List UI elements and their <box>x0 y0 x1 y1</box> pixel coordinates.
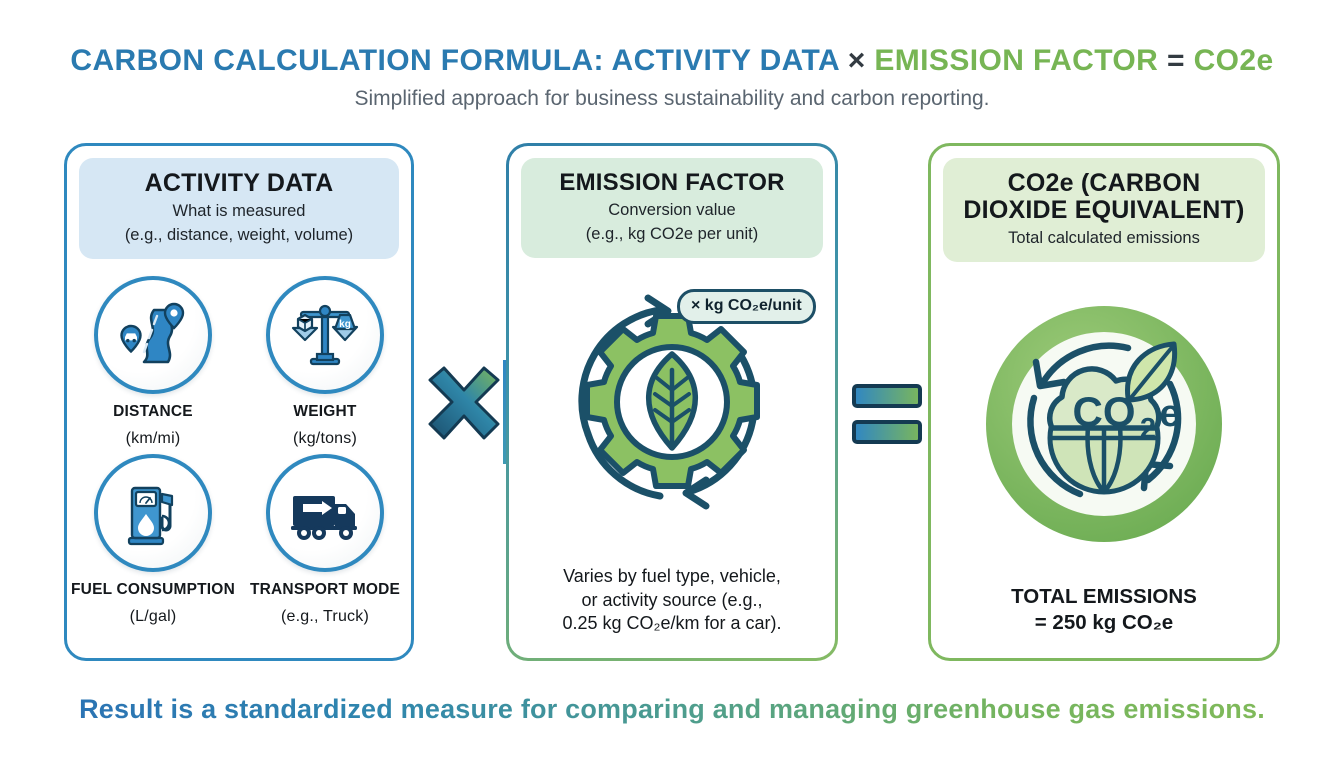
panel-co2e-result-total: TOTAL EMISSIONS = 250 kg CO₂e <box>931 584 1277 636</box>
title-equals-symbol: = <box>1167 44 1185 77</box>
fuel-pump-icon <box>94 454 212 572</box>
panel-co2e-result-header: CO2e (CARBON DIOXIDE EQUIVALENT) Total c… <box>943 158 1265 262</box>
svg-text:2: 2 <box>1140 413 1156 445</box>
panel-co2e-result: CO2e (CARBON DIOXIDE EQUIVALENT) Total c… <box>928 143 1280 661</box>
panel-emission-factor-subtitle-2: (e.g., kg CO2e per unit) <box>531 224 813 244</box>
activity-data-icon-grid: DISTANCE (km/mi) <box>67 276 411 626</box>
page-title: CARBON CALCULATION FORMULA: ACTIVITY DAT… <box>0 44 1344 77</box>
panel-co2e-result-subtitle-1: Total calculated emissions <box>953 228 1255 248</box>
co2e-total-value: = 250 kg CO₂e <box>945 610 1263 636</box>
panel-activity-data-subtitle-2: (e.g., distance, weight, volume) <box>89 225 389 245</box>
delivery-truck-icon <box>266 454 384 572</box>
equals-symbol-icon <box>854 386 920 442</box>
panel-emission-factor-title: EMISSION FACTOR <box>531 170 813 196</box>
svg-text:kg: kg <box>339 319 351 330</box>
panel-activity-data: ACTIVITY DATA What is measured (e.g., di… <box>64 143 414 661</box>
activity-item-transport-label: TRANSPORT MODE <box>250 581 400 599</box>
panel-activity-data-subtitle-1: What is measured <box>89 201 389 221</box>
road-map-pin-icon <box>94 276 212 394</box>
emission-factor-bubble: × kg CO₂e/unit <box>677 289 816 324</box>
panel-activity-data-title: ACTIVITY DATA <box>89 170 389 197</box>
multiply-symbol-icon <box>430 368 498 438</box>
title-part-emission-factor: EMISSION FACTOR <box>874 44 1158 77</box>
activity-item-distance-unit: (km/mi) <box>126 430 181 448</box>
emission-factor-foot-line-1: Varies by fuel type, vehicle, <box>523 565 821 589</box>
co2e-total-label: TOTAL EMISSIONS <box>945 584 1263 610</box>
activity-item-weight-unit: (kg/tons) <box>293 430 357 448</box>
emission-factor-foot-line-3: 0.25 kg CO₂e/km for a car). <box>523 612 821 636</box>
co2e-cloud-globe-icon: CO 2 e <box>931 298 1277 550</box>
panel-co2e-result-title: CO2e (CARBON DIOXIDE EQUIVALENT) <box>953 170 1255 224</box>
activity-item-distance[interactable]: DISTANCE (km/mi) <box>67 276 239 448</box>
activity-item-distance-label: DISTANCE <box>113 403 193 421</box>
panel-emission-factor: EMISSION FACTOR Conversion value (e.g., … <box>506 143 838 661</box>
activity-item-fuel-label: FUEL CONSUMPTION <box>71 581 235 599</box>
panel-activity-data-header: ACTIVITY DATA What is measured (e.g., di… <box>79 158 399 259</box>
activity-item-weight[interactable]: kg WEIGHT (kg/tons) <box>239 276 411 448</box>
emission-factor-bubble-label: × kg CO₂e/unit <box>691 297 802 314</box>
panel-emission-factor-footnote: Varies by fuel type, vehicle, or activit… <box>509 565 835 636</box>
title-part-activity-data: CARBON CALCULATION FORMULA: ACTIVITY DAT… <box>70 44 839 77</box>
svg-text:e: e <box>1159 393 1180 435</box>
title-part-co2e: CO2e <box>1194 44 1274 77</box>
infographic-canvas: CARBON CALCULATION FORMULA: ACTIVITY DAT… <box>0 0 1344 768</box>
page-subtitle: Simplified approach for business sustain… <box>0 87 1344 111</box>
balance-scale-icon: kg <box>266 276 384 394</box>
activity-item-transport-unit: (e.g., Truck) <box>281 608 369 626</box>
activity-item-weight-label: WEIGHT <box>293 403 356 421</box>
title-multiply-symbol: × <box>848 44 866 77</box>
activity-item-fuel[interactable]: FUEL CONSUMPTION (L/gal) <box>67 454 239 626</box>
activity-item-fuel-unit: (L/gal) <box>130 608 177 626</box>
panel-emission-factor-header: EMISSION FACTOR Conversion value (e.g., … <box>521 158 823 258</box>
header: CARBON CALCULATION FORMULA: ACTIVITY DAT… <box>0 44 1344 111</box>
activity-item-transport[interactable]: TRANSPORT MODE (e.g., Truck) <box>239 454 411 626</box>
footer-caption: Result is a standardized measure for com… <box>0 694 1344 725</box>
emission-factor-foot-line-2: or activity source (e.g., <box>523 589 821 613</box>
panel-emission-factor-subtitle-1: Conversion value <box>531 200 813 220</box>
svg-text:CO: CO <box>1073 388 1136 435</box>
